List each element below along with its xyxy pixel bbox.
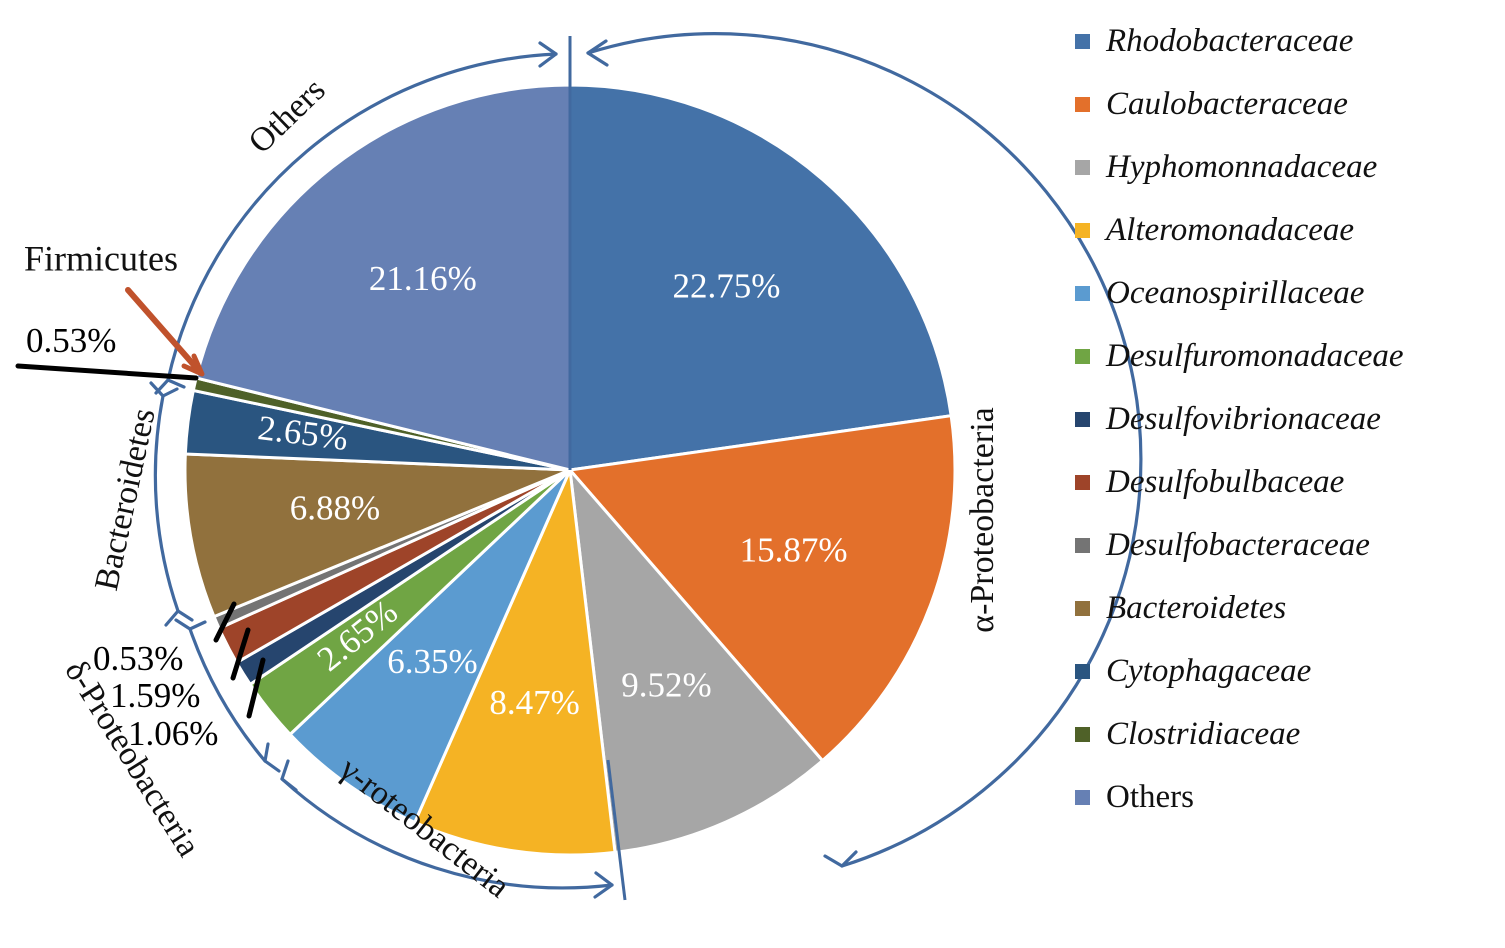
chart-legend: RhodobacteraceaeCaulobacteraceaeHyphomon… xyxy=(1068,10,1505,890)
legend-item-label: Rhodobacteraceae xyxy=(1106,25,1353,58)
arc-label-alpha-proteobacteria: α-Proteobacteria xyxy=(964,407,1001,632)
legend-swatch-icon xyxy=(1075,223,1090,238)
legend-swatch-icon xyxy=(1075,286,1090,301)
slice-value-caulobacteraceae: 15.87% xyxy=(740,530,848,569)
arc-label-bacteroidetes: Bacteroidetes xyxy=(88,405,163,594)
callout-value-desulfobacteraceae: 0.53% xyxy=(93,639,183,678)
legend-item-desulfobulbaceae[interactable]: Desulfobulbaceae xyxy=(1068,451,1505,514)
legend-item-label: Desulfuromonadaceae xyxy=(1106,340,1404,373)
callout-value-desulfobulbaceae: 1.59% xyxy=(110,676,200,715)
callout-value-desulfovibrionaceae: 1.06% xyxy=(128,714,218,753)
legend-item-label: Bacteroidetes xyxy=(1106,592,1286,625)
legend-item-clostridiaceae[interactable]: Clostridiaceae xyxy=(1068,703,1505,766)
legend-item-rhodobacteraceae[interactable]: Rhodobacteraceae xyxy=(1068,10,1505,73)
legend-swatch-icon xyxy=(1075,349,1090,364)
legend-item-label: Desulfobulbaceae xyxy=(1106,466,1344,499)
legend-item-label: Desulfovibrionaceae xyxy=(1106,403,1381,436)
slice-value-oceanospirillaceae: 6.35% xyxy=(387,642,477,681)
legend-item-label: Hyphomonnadaceae xyxy=(1106,151,1377,184)
legend-item-label: Oceanospirillaceae xyxy=(1106,277,1364,310)
legend-swatch-icon xyxy=(1075,160,1090,175)
legend-swatch-icon xyxy=(1075,34,1090,49)
legend-item-label: Cytophagaceae xyxy=(1106,655,1311,688)
slice-value-rhodobacteraceae: 22.75% xyxy=(672,267,780,306)
arc-label-others: Others xyxy=(242,71,333,161)
legend-item-alteromonadaceae[interactable]: Alteromonadaceae xyxy=(1068,199,1505,262)
legend-item-cytophagaceae[interactable]: Cytophagaceae xyxy=(1068,640,1505,703)
legend-item-desulfuromonadaceae[interactable]: Desulfuromonadaceae xyxy=(1068,325,1505,388)
slice-value-alteromonadaceae: 8.47% xyxy=(489,683,579,722)
legend-swatch-icon xyxy=(1075,790,1090,805)
legend-swatch-icon xyxy=(1075,475,1090,490)
legend-item-label: Alteromonadaceae xyxy=(1106,214,1354,247)
legend-swatch-icon xyxy=(1075,97,1090,112)
slice-value-others: 21.16% xyxy=(369,259,477,298)
legend-swatch-icon xyxy=(1075,727,1090,742)
callout-value-clostridiaceae: 0.53% xyxy=(26,321,116,360)
legend-item-others[interactable]: Others xyxy=(1068,766,1505,829)
legend-item-label: Desulfobacteraceae xyxy=(1106,529,1370,562)
legend-swatch-icon xyxy=(1075,412,1090,427)
legend-swatch-icon xyxy=(1075,664,1090,679)
legend-item-caulobacteraceae[interactable]: Caulobacteraceae xyxy=(1068,73,1505,136)
slice-value-bacteroidetes: 6.88% xyxy=(290,488,380,527)
legend-item-label: Others xyxy=(1106,781,1194,814)
legend-item-label: Clostridiaceae xyxy=(1106,718,1300,751)
legend-item-label: Caulobacteraceae xyxy=(1106,88,1348,121)
legend-item-hyphomonnadaceae[interactable]: Hyphomonnadaceae xyxy=(1068,136,1505,199)
legend-item-oceanospirillaceae[interactable]: Oceanospirillaceae xyxy=(1068,262,1505,325)
legend-swatch-icon xyxy=(1075,538,1090,553)
legend-item-desulfovibrionaceae[interactable]: Desulfovibrionaceae xyxy=(1068,388,1505,451)
pie-chart-figure: 22.75%15.87%9.52%8.47%6.35%2.65%6.88%2.6… xyxy=(0,0,1505,948)
legend-item-bacteroidetes[interactable]: Bacteroidetes xyxy=(1068,577,1505,640)
legend-item-desulfobacteraceae[interactable]: Desulfobacteraceae xyxy=(1068,514,1505,577)
legend-swatch-icon xyxy=(1075,601,1090,616)
slice-value-hyphomonnadaceae: 9.52% xyxy=(621,665,711,704)
arc-label-firmicutes: Firmicutes xyxy=(24,238,178,278)
firmicutes-pointer xyxy=(128,290,202,374)
